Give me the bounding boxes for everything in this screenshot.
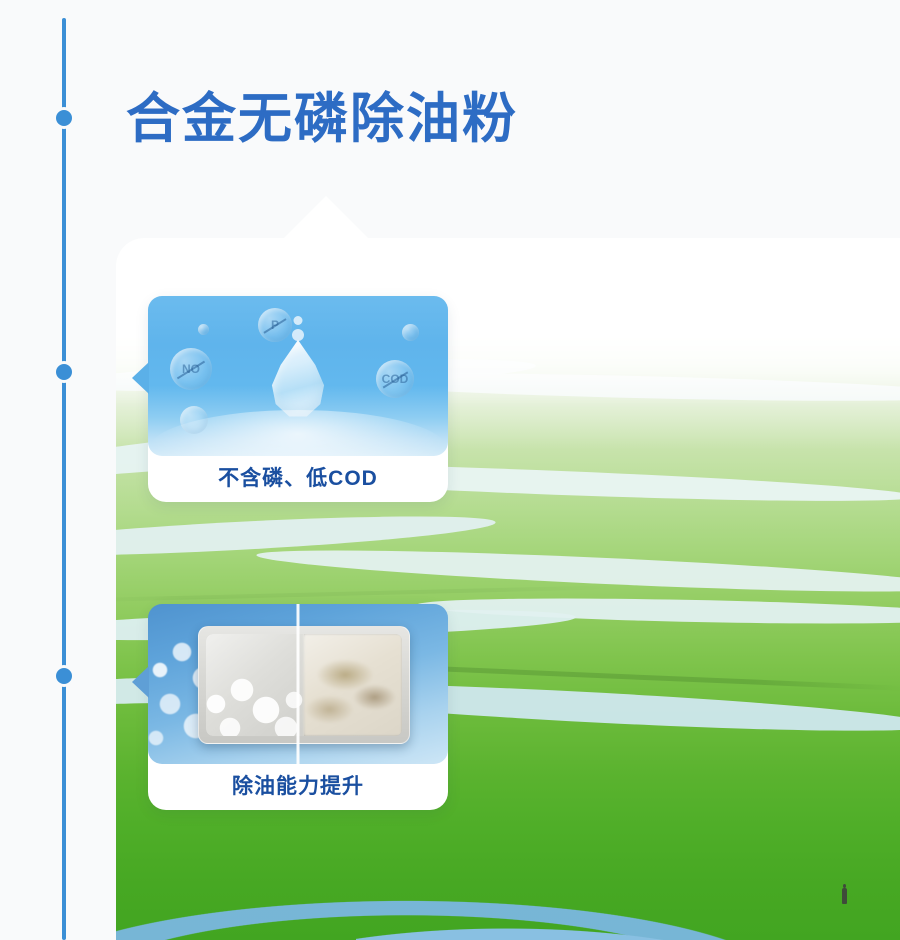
bubble-small-icon — [402, 324, 419, 341]
feature-card-1-media: P NO COD — [148, 296, 448, 456]
page-title: 合金无磷除油粉 — [126, 88, 518, 150]
timeline-dot-feature-1 — [56, 364, 72, 380]
metal-plate — [198, 626, 410, 744]
plate-cleaned-half — [206, 634, 304, 736]
bubble-no-p-icon: P — [258, 308, 292, 342]
feature-card-2-caption: 除油能力提升 — [148, 764, 448, 810]
metal-plate-illustration — [148, 604, 448, 764]
water-droplet-icon — [267, 340, 329, 418]
timeline-dot-title — [56, 110, 72, 126]
metal-plate-surface — [206, 634, 402, 736]
card-pointer-icon — [132, 666, 149, 698]
feature-card-2[interactable]: 除油能力提升 — [148, 604, 448, 810]
mini-droplet-icon — [294, 316, 303, 325]
water-drop-illustration: P NO COD — [148, 296, 448, 456]
feature-card-1-caption: 不含磷、低COD — [148, 456, 448, 502]
card-pointer-icon — [132, 362, 149, 394]
before-after-divider — [297, 604, 300, 764]
bubble-small-icon — [198, 324, 209, 335]
plate-oily-half — [304, 634, 402, 736]
mini-droplet-icon — [292, 329, 304, 341]
sheet-up-arrow-icon — [282, 196, 370, 240]
bubble-no-icon: NO — [170, 348, 212, 390]
person-figure — [842, 888, 847, 904]
feature-card-1[interactable]: P NO COD 不含磷、低COD — [148, 296, 448, 502]
feature-card-2-media — [148, 604, 448, 764]
bubble-no-cod-icon: COD — [376, 360, 414, 398]
product-feature-page: 合金无磷除油粉 P NO COD — [0, 0, 900, 940]
timeline-rail — [62, 18, 66, 940]
timeline-dot-feature-2 — [56, 668, 72, 684]
